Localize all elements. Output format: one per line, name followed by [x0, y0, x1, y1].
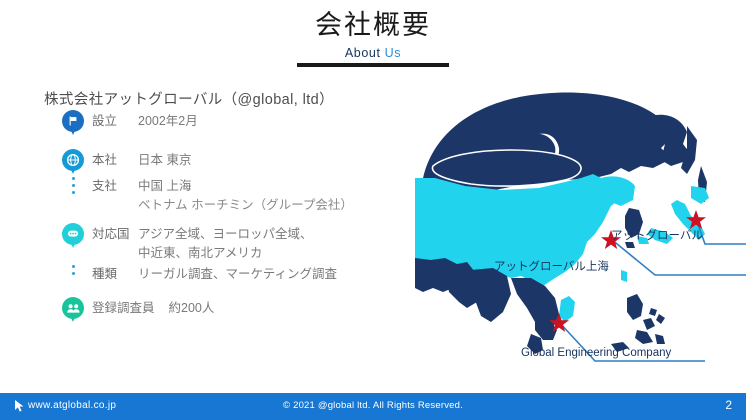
info-row-branches: 支社 中国 上海 ベトナム ホーチミン（グループ会社） — [54, 175, 414, 215]
info-label-branches: 支社 — [92, 177, 138, 196]
icon-cell-branches — [54, 175, 92, 196]
info-label-branches-cont — [92, 196, 138, 215]
info-row-countries: 対応国 アジア全域、ヨーロッパ全域、 中近東、南北アメリカ — [54, 223, 414, 263]
title-underline-rule — [297, 63, 449, 67]
info-label-service-types: 種類 — [92, 265, 138, 284]
company-name: 株式会社アットグローバル（@global, ltd） — [44, 88, 334, 109]
info-label-headquarters: 本社 — [92, 151, 138, 170]
slide-header: 会社概要 About Us — [0, 8, 746, 61]
info-value-founded: 2002年2月 — [138, 112, 198, 131]
callout-label-atglobal: アットグローバル — [611, 228, 703, 242]
callout-label-atglobal-shanghai: アットグローバル上海 — [494, 259, 609, 273]
info-value-service-types: リーガル調査、マーケティング調査 — [138, 265, 337, 284]
asia-map: アットグローバル アットグローバル上海 Global Engineering C… — [415, 82, 746, 377]
globe-pin-icon — [62, 149, 84, 175]
info-value-countries-2: 中近東、南北アメリカ — [138, 244, 262, 263]
info-value-branches-2: ベトナム ホーチミン（グループ会社） — [138, 196, 353, 215]
page-title: 会社概要 — [0, 8, 746, 42]
info-text-branches: 支社 中国 上海 ベトナム ホーチミン（グループ会社） — [92, 175, 353, 215]
footer-page-number: 2 — [725, 398, 732, 412]
page-subtitle-primary: About — [345, 46, 381, 60]
icon-cell-founded — [54, 110, 92, 136]
people-pin-icon — [62, 297, 84, 323]
footer-bar: www.atglobal.co.jp © 2021 @global ltd. A… — [0, 393, 746, 420]
info-text-investigators: 登録調査員 約200人 — [92, 297, 214, 318]
icon-cell-headquarters — [54, 149, 92, 175]
info-text-service-types: 種類 リーガル調査、マーケティング調査 — [92, 263, 337, 284]
info-value-investigators: 約200人 — [169, 299, 215, 318]
dots-separator-icon — [54, 175, 92, 196]
dots-separator-icon-2 — [54, 263, 92, 277]
info-label-countries-cont — [92, 244, 138, 263]
info-value-headquarters: 日本 東京 — [138, 151, 191, 170]
info-label-investigators: 登録調査員 — [92, 299, 155, 318]
company-info-list: 設立 2002年2月 — [54, 110, 414, 323]
chat-pin-icon — [62, 223, 84, 249]
page-subtitle: About Us — [0, 45, 746, 61]
info-value-branches: 中国 上海 — [138, 177, 191, 196]
info-row-founded: 設立 2002年2月 — [54, 110, 414, 136]
info-text-countries: 対応国 アジア全域、ヨーロッパ全域、 中近東、南北アメリカ — [92, 223, 313, 263]
info-label-countries: 対応国 — [92, 225, 138, 244]
info-text-founded: 設立 2002年2月 — [92, 110, 198, 131]
map-mongolia — [432, 150, 581, 186]
info-value-countries: アジア全域、ヨーロッパ全域、 — [138, 225, 313, 244]
info-row-service-types: 種類 リーガル調査、マーケティング調査 — [54, 263, 414, 285]
icon-cell-countries — [54, 223, 92, 249]
callout-label-global-engineering: Global Engineering Company — [521, 347, 671, 359]
info-row-headquarters: 本社 日本 東京 — [54, 149, 414, 175]
info-row-investigators: 登録調査員 約200人 — [54, 297, 414, 323]
page-subtitle-accent: Us — [385, 46, 401, 60]
icon-cell-investigators — [54, 297, 92, 323]
info-text-headquarters: 本社 日本 東京 — [92, 149, 191, 170]
icon-cell-service-types — [54, 263, 92, 277]
footer-copyright: © 2021 @global ltd. All Rights Reserved. — [0, 400, 746, 411]
info-label-founded: 設立 — [92, 112, 138, 131]
slide-root: 会社概要 About Us 株式会社アットグローバル（@global, ltd） — [0, 0, 746, 420]
flag-pin-icon — [62, 110, 84, 136]
